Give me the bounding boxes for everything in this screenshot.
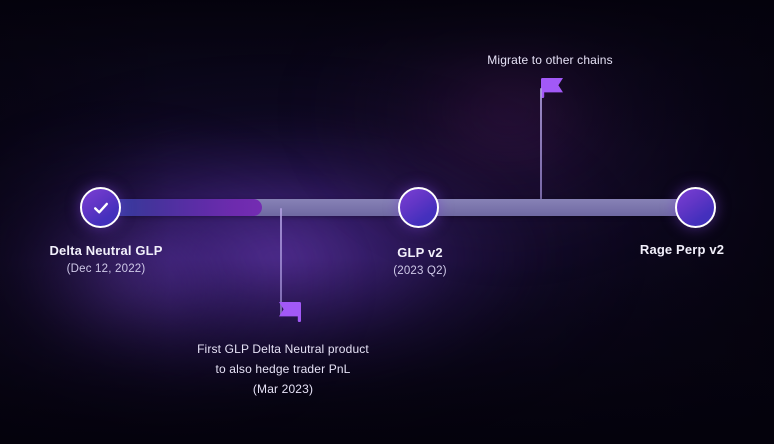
milestone-label-delta-neutral-glp: Delta Neutral GLP xyxy=(49,243,162,258)
milestone-node-delta-neutral-glp[interactable] xyxy=(80,187,121,228)
milestone-label-rage-perp-v2: Rage Perp v2 xyxy=(640,242,724,257)
roadmap-timeline: Migrate to other chains Delta Neutral GL… xyxy=(0,0,774,444)
milestone-date-glp-v2: (2023 Q2) xyxy=(393,265,447,277)
annotation-line: Migrate to other chains xyxy=(487,50,613,70)
annotation-line: (Mar 2023) xyxy=(197,379,369,399)
milestone-date-delta-neutral-glp: (Dec 12, 2022) xyxy=(67,263,146,275)
flag-left-icon xyxy=(277,300,303,324)
milestone-label-glp-v2: GLP v2 xyxy=(397,245,442,260)
annotation-migrate-to-other-chains: Migrate to other chains xyxy=(487,50,613,70)
milestone-node-rage-perp-v2[interactable] xyxy=(675,187,716,228)
milestone-node-glp-v2[interactable] xyxy=(398,187,439,228)
flag-right-icon xyxy=(539,76,565,100)
connector-pole-top xyxy=(540,88,542,202)
annotation-line: First GLP Delta Neutral product xyxy=(197,339,369,359)
annotation-line: to also hedge trader PnL xyxy=(197,359,369,379)
annotation-first-glp-delta-neutral-product: First GLP Delta Neutral product to also … xyxy=(197,339,369,399)
check-icon xyxy=(91,198,111,218)
background-vignette xyxy=(0,0,774,444)
